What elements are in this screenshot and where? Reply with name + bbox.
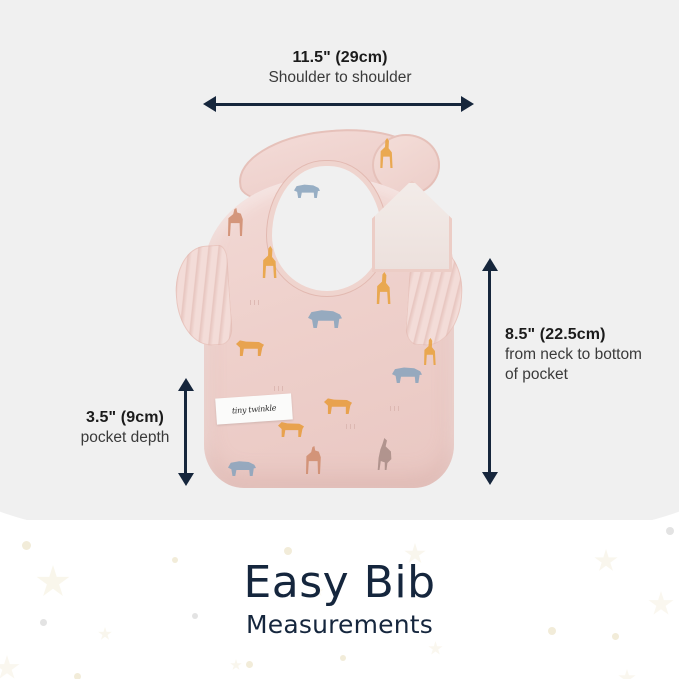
brand-tag: tiny twinkle [215, 393, 293, 424]
grass-print [272, 386, 288, 391]
neck-to-pocket-value: 8.5" (22.5cm) [505, 325, 645, 345]
pocket-depth-arrow-down [178, 473, 194, 486]
bib-ruffle-left [173, 244, 234, 348]
label-neck-to-pocket: 8.5" (22.5cm) from neck to bottom of poc… [505, 325, 645, 385]
pocket-depth-arrow-up [178, 378, 194, 391]
product-title: Easy Bib [0, 560, 679, 606]
neck-to-pocket-description: from neck to bottom of pocket [505, 345, 645, 385]
footer-title-block: Easy Bib Measurements [0, 560, 679, 639]
pocket-depth-value: 3.5" (9cm) [62, 408, 188, 428]
shoulder-arrow-right [461, 96, 474, 112]
grass-print [344, 424, 360, 429]
label-shoulder-to-shoulder: 11.5" (29cm) Shoulder to shoulder [205, 48, 475, 88]
shoulder-description: Shoulder to shoulder [205, 68, 475, 88]
neck-to-pocket-arrow-up [482, 258, 498, 271]
brand-tag-label: tiny twinkle [232, 403, 277, 415]
neck-to-pocket-arrow-down [482, 472, 498, 485]
shoulder-dimension-line [216, 103, 462, 106]
product-measurement-infographic: tiny twinkle 11.5" (29cm) Shoulder to sh… [0, 0, 679, 679]
bib-neck-opening [272, 166, 382, 291]
shoulder-arrow-left [203, 96, 216, 112]
product-subtitle: Measurements [0, 610, 679, 639]
pocket-depth-description: pocket depth [62, 428, 188, 448]
shoulder-value: 11.5" (29cm) [205, 48, 475, 68]
product-image-bib: tiny twinkle [176, 128, 476, 496]
grass-print [388, 406, 404, 411]
neck-to-pocket-dimension-line [488, 270, 491, 473]
label-pocket-depth: 3.5" (9cm) pocket depth [62, 408, 188, 448]
grass-print [248, 300, 264, 305]
